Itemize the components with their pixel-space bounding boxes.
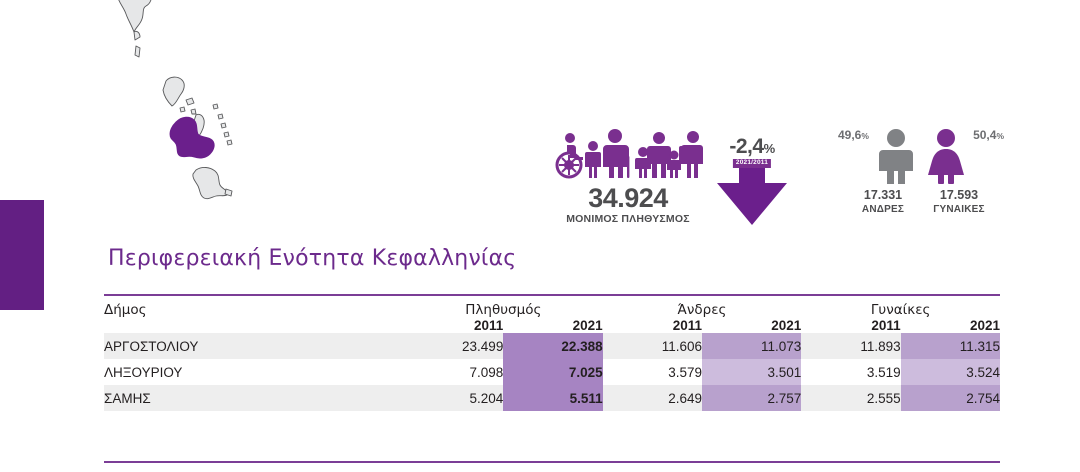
header-women: Γυναίκες	[801, 302, 1000, 318]
cell-men-2021: 11.073	[702, 333, 801, 359]
female-percent: 50,4%	[973, 128, 1004, 142]
female-percent-sign: %	[996, 131, 1004, 141]
cell-pop-2011: 23.499	[404, 333, 503, 359]
left-accent-bar	[0, 200, 44, 310]
map-islet-d	[218, 114, 223, 119]
map-island-corfu-main	[118, 0, 151, 32]
header-pop-2011: 2011	[404, 318, 503, 333]
map-islet-e	[221, 123, 226, 128]
female-percent-value: 50,4	[973, 128, 996, 142]
cell-municipality: ΛΗΞΟΥΡΙΟΥ	[104, 359, 404, 385]
female-figure-icon	[925, 128, 967, 184]
table-group-header-row: Δήμος Πληθυσμός Άνδρες Γυναίκες	[104, 302, 1000, 318]
cell-municipality: ΣΑΜΗΣ	[104, 385, 404, 411]
female-count: 17.593	[928, 188, 990, 204]
table-row: ΑΡΓΟΣΤΟΛΙΟΥ 23.499 22.388 11.606 11.073 …	[104, 333, 1000, 359]
header-women-2021: 2021	[901, 318, 1000, 333]
cell-pop-2021: 5.511	[503, 385, 602, 411]
male-percent-value: 49,6	[838, 128, 861, 142]
map-islet-f	[224, 132, 229, 137]
cell-women-2011: 2.555	[801, 385, 900, 411]
change-number: -2,4	[729, 135, 763, 158]
change-percent-sign: %	[764, 141, 775, 156]
male-stats: 17.331 ΑΝΔΡΕΣ	[852, 188, 914, 215]
male-count: 17.331	[852, 188, 914, 204]
cell-men-2021: 2.757	[702, 385, 801, 411]
map-island-corfu-south	[134, 31, 140, 40]
map-islet-g	[227, 140, 232, 145]
map-island-kefalonia-highlighted	[170, 117, 214, 158]
table-bottom-divider	[104, 461, 1000, 463]
cell-pop-2021: 22.388	[503, 333, 602, 359]
cell-women-2021: 11.315	[901, 333, 1000, 359]
header-men-2011: 2011	[603, 318, 702, 333]
table-row: ΣΑΜΗΣ 5.204 5.511 2.649 2.757 2.555 2.75…	[104, 385, 1000, 411]
change-percent-value: -2,4%	[706, 136, 798, 157]
cell-municipality: ΑΡΓΟΣΤΟΛΙΟΥ	[104, 333, 404, 359]
female-label: ΓΥΝΑΙΚΕΣ	[928, 204, 990, 215]
header-pop-2021: 2021	[503, 318, 602, 333]
map-island-lefkada	[163, 77, 184, 106]
header-women-2011: 2011	[801, 318, 900, 333]
cell-women-2011: 3.519	[801, 359, 900, 385]
arrow-down-icon	[715, 159, 789, 229]
cell-women-2021: 3.524	[901, 359, 1000, 385]
female-stats: 17.593 ΓΥΝΑΙΚΕΣ	[928, 188, 990, 215]
cell-women-2011: 11.893	[801, 333, 900, 359]
cell-men-2011: 2.649	[603, 385, 702, 411]
male-figure-icon	[875, 128, 917, 184]
male-percent-sign: %	[861, 131, 869, 141]
cell-pop-2021: 7.025	[503, 359, 602, 385]
cell-men-2011: 3.579	[603, 359, 702, 385]
cell-men-2021: 3.501	[702, 359, 801, 385]
cell-men-2011: 11.606	[603, 333, 702, 359]
header-municipality: Δήμος	[104, 302, 404, 318]
population-value: 34.924	[548, 184, 708, 212]
map-island-zakynthos	[193, 167, 228, 198]
population-label: ΜΟΝΙΜΟΣ ΠΛΗΘΥΣΜΟΣ	[548, 213, 708, 225]
cell-women-2021: 2.754	[901, 385, 1000, 411]
male-percent: 49,6%	[838, 128, 869, 142]
table-year-header-row: 2011 2021 2011 2021 2011 2021	[104, 318, 1000, 333]
header-men: Άνδρες	[603, 302, 802, 318]
page-title: Περιφερειακή Ενότητα Κεφαλληνίας	[108, 246, 516, 271]
people-group-icon	[548, 126, 708, 182]
map-islet-meganisi	[186, 98, 194, 105]
header-population: Πληθυσμός	[404, 302, 603, 318]
map-islet-a	[180, 107, 185, 112]
population-table: Δήμος Πληθυσμός Άνδρες Γυναίκες 2011 202…	[104, 302, 1000, 411]
map-islet-c	[213, 104, 218, 109]
header-men-2021: 2021	[702, 318, 801, 333]
ionian-islands-map	[88, 0, 298, 224]
gender-split-infographic: 49,6% 50,4% 17.331 ΑΝΔΡΕΣ 17.593	[836, 126, 1006, 215]
population-infographic: 34.924 ΜΟΝΙΜΟΣ ΠΛΗΘΥΣΜΟΣ	[548, 126, 708, 225]
map-islet-b	[191, 109, 196, 114]
male-label: ΑΝΔΡΕΣ	[852, 204, 914, 215]
map-island-paxoi	[135, 46, 140, 57]
cell-pop-2011: 5.204	[404, 385, 503, 411]
header-spacer	[104, 318, 404, 333]
cell-pop-2011: 7.098	[404, 359, 503, 385]
change-period-badge: 2021/2011	[733, 159, 771, 168]
title-divider	[104, 294, 1000, 296]
population-change-infographic: -2,4% 2021/2011	[706, 136, 798, 229]
table-row: ΛΗΞΟΥΡΙΟΥ 7.098 7.025 3.579 3.501 3.519 …	[104, 359, 1000, 385]
